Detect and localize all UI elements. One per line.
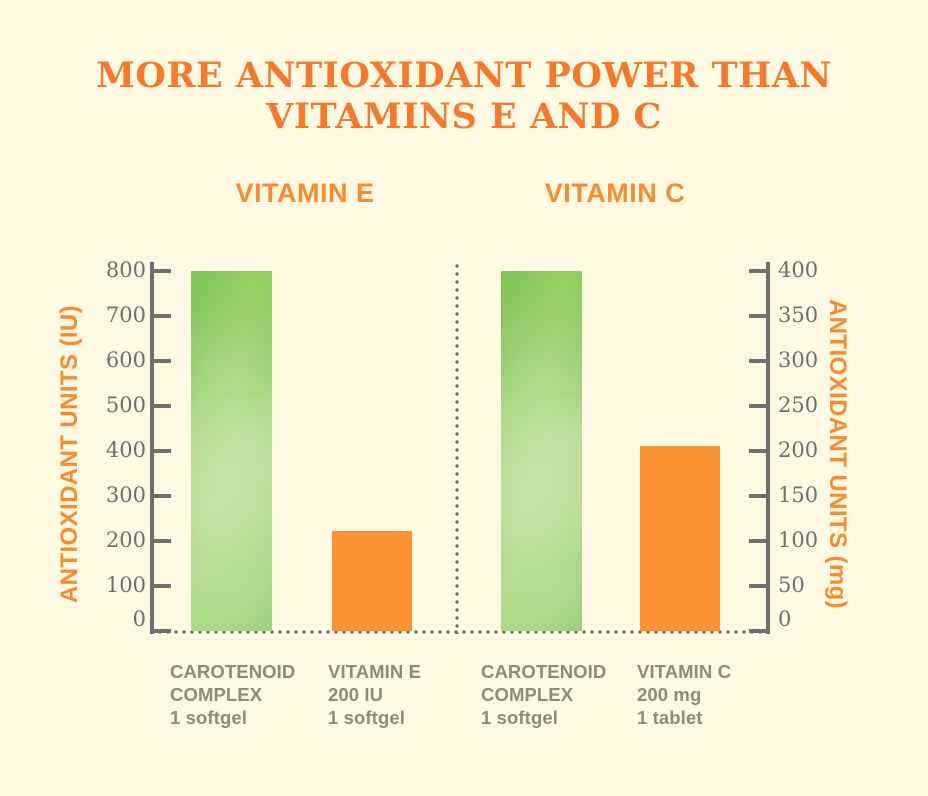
left-tick-label-0: 0 <box>84 609 146 630</box>
panel-header-vitamin-e: VITAMIN E <box>150 178 460 209</box>
right-tick-350 <box>749 314 768 318</box>
left-tick-100 <box>152 584 171 588</box>
category-label-carotenoid-complex-1: CAROTENOID COMPLEX 1 softgel <box>170 660 295 729</box>
right-axis-title: ANTIOXIDANT UNITS (mg) <box>823 254 851 654</box>
panel-header-vitamin-c: VITAMIN C <box>460 178 770 209</box>
left-tick-label-600: 600 <box>84 350 146 371</box>
category-label-line-1: CAROTENOID <box>481 660 606 683</box>
category-label-line-3: 1 softgel <box>481 706 606 729</box>
left-tick-0 <box>152 629 171 633</box>
panel-divider-dotted <box>455 262 459 634</box>
right-tick-150 <box>749 494 768 498</box>
category-label-line-3: 1 tablet <box>637 706 731 729</box>
antioxidant-power-infographic: MORE ANTIOXIDANT POWER THAN VITAMINS E A… <box>0 0 928 796</box>
category-label-vitamin-e-200iu: VITAMIN E 200 IU 1 softgel <box>328 660 421 729</box>
left-tick-600 <box>152 359 171 363</box>
page-title: MORE ANTIOXIDANT POWER THAN VITAMINS E A… <box>0 55 928 137</box>
left-axis-title: ANTIOXIDANT UNITS (IU) <box>56 254 84 654</box>
page-title-line-2: VITAMINS E AND C <box>0 96 928 137</box>
right-tick-0 <box>749 629 768 633</box>
left-tick-label-400: 400 <box>84 440 146 461</box>
right-tick-100 <box>749 539 768 543</box>
left-tick-300 <box>152 494 171 498</box>
left-tick-500 <box>152 404 171 408</box>
left-tick-400 <box>152 449 171 453</box>
left-tick-800 <box>152 269 171 273</box>
category-label-vitamin-c-200mg: VITAMIN C 200 mg 1 tablet <box>637 660 731 729</box>
category-label-line-3: 1 softgel <box>170 706 295 729</box>
category-label-line-2: 200 mg <box>637 683 731 706</box>
left-tick-label-300: 300 <box>84 485 146 506</box>
category-label-line-3: 1 softgel <box>328 706 421 729</box>
right-tick-200 <box>749 449 768 453</box>
category-label-line-1: CAROTENOID <box>170 660 295 683</box>
bar-vitamin-c-200mg <box>640 446 720 631</box>
category-label-line-1: VITAMIN C <box>637 660 731 683</box>
left-tick-700 <box>152 314 171 318</box>
category-label-line-2: 200 IU <box>328 683 421 706</box>
category-label-line-2: COMPLEX <box>170 683 295 706</box>
bar-carotenoid-complex-vitamin-e-panel <box>191 271 272 631</box>
left-tick-label-700: 700 <box>84 305 146 326</box>
right-tick-300 <box>749 359 768 363</box>
right-tick-50 <box>749 584 768 588</box>
left-tick-label-200: 200 <box>84 530 146 551</box>
right-tick-250 <box>749 404 768 408</box>
category-label-carotenoid-complex-2: CAROTENOID COMPLEX 1 softgel <box>481 660 606 729</box>
left-tick-label-100: 100 <box>84 575 146 596</box>
bar-vitamin-e-200iu <box>332 531 412 631</box>
left-tick-label-500: 500 <box>84 395 146 416</box>
page-title-line-1: MORE ANTIOXIDANT POWER THAN <box>0 55 928 96</box>
category-label-line-1: VITAMIN E <box>328 660 421 683</box>
bar-carotenoid-complex-vitamin-c-panel <box>501 271 582 631</box>
left-tick-200 <box>152 539 171 543</box>
category-label-line-2: COMPLEX <box>481 683 606 706</box>
right-tick-400 <box>749 269 768 273</box>
left-tick-label-800: 800 <box>84 260 146 281</box>
